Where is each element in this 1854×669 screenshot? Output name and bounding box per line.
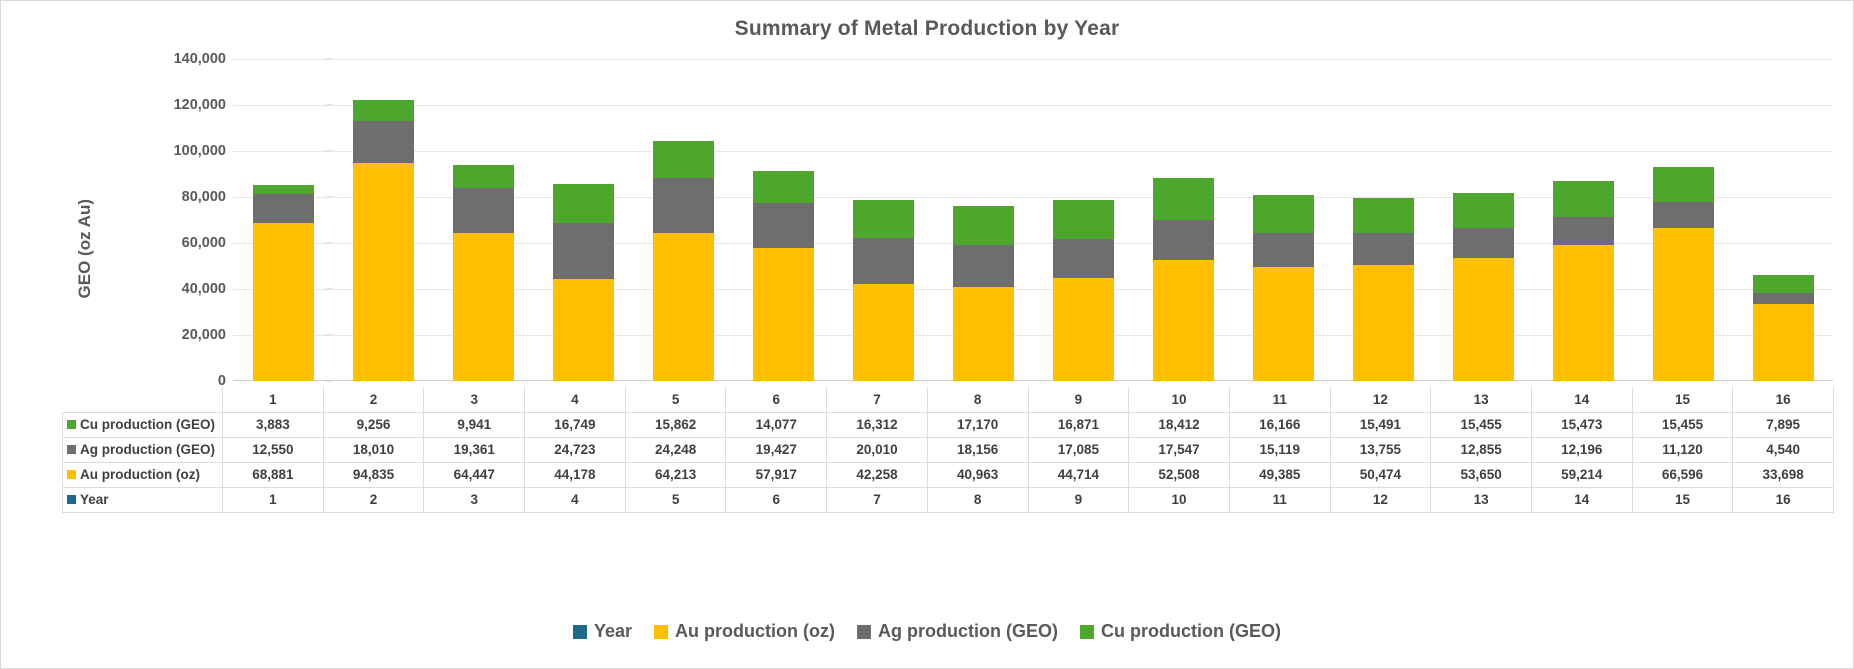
bar-segment[interactable] [1553, 245, 1614, 381]
bar-slot [1333, 59, 1433, 381]
table-cell: 18,412 [1129, 412, 1230, 437]
y-axis-ticks: 140,000120,000100,00080,00060,00040,0002… [101, 59, 226, 381]
bar-segment[interactable] [653, 178, 714, 234]
table-cell: 44,178 [525, 462, 626, 487]
bar-segment[interactable] [453, 165, 514, 188]
x-axis-category-label: 2 [323, 387, 424, 412]
series-color-swatch-icon [67, 420, 76, 429]
bar-segment[interactable] [1253, 195, 1314, 232]
bar-segment[interactable] [653, 141, 714, 177]
bar-slot [1033, 59, 1133, 381]
bar-segment[interactable] [1553, 217, 1614, 245]
bar-segment[interactable] [753, 203, 814, 248]
bar-segment[interactable] [1653, 228, 1714, 381]
table-cell: 40,963 [927, 462, 1028, 487]
table-cell: 57,917 [726, 462, 827, 487]
table-cell: 12,550 [223, 437, 324, 462]
table-cell: 15,473 [1531, 412, 1632, 437]
table-cell: 13 [1431, 487, 1532, 512]
table-row-label: Year [80, 492, 109, 507]
bar-segment[interactable] [953, 287, 1014, 381]
table-cell: 1 [223, 487, 324, 512]
table-cell: 66,596 [1632, 462, 1733, 487]
bar-segment[interactable] [1053, 278, 1114, 381]
table-cell: 2 [323, 487, 424, 512]
bar-segment[interactable] [753, 248, 814, 381]
table-cell: 17,547 [1129, 437, 1230, 462]
bar-slot [533, 59, 633, 381]
bar-segment[interactable] [1353, 265, 1414, 381]
table-cell: 94,835 [323, 462, 424, 487]
table-cell: 9,941 [424, 412, 525, 437]
table-cell: 16,312 [827, 412, 928, 437]
bar-segment[interactable] [553, 279, 614, 381]
bar-segment[interactable] [853, 284, 914, 381]
bar-segment[interactable] [753, 171, 814, 203]
stacked-bar[interactable] [1653, 59, 1714, 381]
table-cell: 18,156 [927, 437, 1028, 462]
stacked-bar[interactable] [1253, 59, 1314, 381]
table-row: Year12345678910111213141516 [63, 487, 1834, 512]
bar-segment[interactable] [953, 206, 1014, 245]
table-cell: 15 [1632, 487, 1733, 512]
bar-segment[interactable] [253, 194, 314, 223]
bar-slot [333, 59, 433, 381]
bar-segment[interactable] [1253, 233, 1314, 268]
series-color-swatch-icon [67, 495, 76, 504]
table-cell: 12,196 [1531, 437, 1632, 462]
table-row-label: Ag production (GEO) [80, 442, 215, 457]
table-cell: 16,166 [1229, 412, 1330, 437]
stacked-bar[interactable] [1753, 59, 1814, 381]
table-cell: 16,871 [1028, 412, 1129, 437]
x-axis-category-label: 14 [1531, 387, 1632, 412]
table-row-header: Au production (oz) [63, 462, 223, 487]
legend-item[interactable]: Ag production (GEO) [857, 621, 1058, 642]
table-cell: 3 [424, 487, 525, 512]
chart-legend: YearAu production (oz)Ag production (GEO… [1, 621, 1853, 642]
table-cell: 15,119 [1229, 437, 1330, 462]
bar-segment[interactable] [1153, 260, 1214, 381]
bar-segment[interactable] [1453, 258, 1514, 381]
stacked-bar[interactable] [1153, 59, 1214, 381]
bar-segment[interactable] [1353, 233, 1414, 265]
stacked-bar[interactable] [653, 59, 714, 381]
bar-slot [1133, 59, 1233, 381]
bar-segment[interactable] [1753, 275, 1814, 293]
x-axis-category-label: 10 [1129, 387, 1230, 412]
x-axis-category-label: 7 [827, 387, 928, 412]
table-cell: 6 [726, 487, 827, 512]
table-row: Ag production (GEO)12,55018,01019,36124,… [63, 437, 1834, 462]
table-cell: 16,749 [525, 412, 626, 437]
bar-segment[interactable] [1353, 198, 1414, 234]
stacked-bar[interactable] [853, 59, 914, 381]
legend-item[interactable]: Year [573, 621, 632, 642]
table-cell: 59,214 [1531, 462, 1632, 487]
x-axis-category-label: 5 [625, 387, 726, 412]
table-cell: 64,447 [424, 462, 525, 487]
bar-segment[interactable] [253, 185, 314, 194]
table-cell: 53,650 [1431, 462, 1532, 487]
table-cell: 50,474 [1330, 462, 1431, 487]
table-cell: 68,881 [223, 462, 324, 487]
table-cell: 15,491 [1330, 412, 1431, 437]
table-cell: 14,077 [726, 412, 827, 437]
table-cell: 8 [927, 487, 1028, 512]
table-cell: 15,455 [1431, 412, 1532, 437]
chart-container: Summary of Metal Production by Year GEO … [0, 0, 1854, 669]
table-category-row: 12345678910111213141516 [63, 387, 1834, 412]
table-cell: 64,213 [625, 462, 726, 487]
bar-segment[interactable] [453, 233, 514, 381]
table-cell: 12 [1330, 487, 1431, 512]
stacked-bar[interactable] [453, 59, 514, 381]
bar-segment[interactable] [853, 238, 914, 284]
x-axis-category-label: 12 [1330, 387, 1431, 412]
table-cell: 9 [1028, 487, 1129, 512]
x-axis-category-label: 3 [424, 387, 525, 412]
legend-color-swatch-icon [654, 625, 668, 639]
table-row-header: Ag production (GEO) [63, 437, 223, 462]
y-axis-tick-label: 140,000 [106, 51, 226, 67]
table-cell: 13,755 [1330, 437, 1431, 462]
x-axis-category-label: 13 [1431, 387, 1532, 412]
table-cell: 14 [1531, 487, 1632, 512]
legend-color-swatch-icon [1080, 625, 1094, 639]
y-axis-tick-label: 20,000 [106, 327, 226, 343]
bar-segment[interactable] [1153, 178, 1214, 220]
legend-item[interactable]: Cu production (GEO) [1080, 621, 1281, 642]
legend-label: Cu production (GEO) [1101, 621, 1281, 642]
bar-segment[interactable] [1053, 239, 1114, 278]
bar-slot [933, 59, 1033, 381]
table-row-header: Year [63, 487, 223, 512]
table-cell: 12,855 [1431, 437, 1532, 462]
y-axis-tick-label: 80,000 [106, 189, 226, 205]
table-cell: 7,895 [1733, 412, 1834, 437]
bar-segment[interactable] [1653, 202, 1714, 228]
table-row: Au production (oz)68,88194,83564,44744,1… [63, 462, 1834, 487]
bar-segment[interactable] [1553, 181, 1614, 217]
stacked-bar[interactable] [253, 59, 314, 381]
table-cell: 4 [525, 487, 626, 512]
table-cell: 7 [827, 487, 928, 512]
table-cell: 5 [625, 487, 726, 512]
x-axis-category-label: 6 [726, 387, 827, 412]
table-cell: 42,258 [827, 462, 928, 487]
bar-segment[interactable] [653, 233, 714, 381]
bar-slot [833, 59, 933, 381]
plot-region: GEO (oz Au) 140,000120,000100,00080,0006… [1, 59, 1854, 381]
bar-segment[interactable] [353, 100, 414, 121]
y-axis-tick-label: 120,000 [106, 97, 226, 113]
bar-segment[interactable] [553, 184, 614, 223]
stacked-bar[interactable] [753, 59, 814, 381]
y-axis-tick-label: 40,000 [106, 281, 226, 297]
table-row: Cu production (GEO)3,8839,2569,94116,749… [63, 412, 1834, 437]
stacked-bar[interactable] [1453, 59, 1514, 381]
bar-segment[interactable] [353, 121, 414, 162]
stacked-bar[interactable] [553, 59, 614, 381]
bar-segment[interactable] [1053, 200, 1114, 239]
data-table: 12345678910111213141516Cu production (GE… [62, 387, 1834, 513]
x-axis-category-label: 1 [223, 387, 324, 412]
table-cell: 24,723 [525, 437, 626, 462]
table-cell: 33,698 [1733, 462, 1834, 487]
bar-segment[interactable] [1653, 167, 1714, 203]
table-row-label: Cu production (GEO) [80, 417, 215, 432]
table-cell: 52,508 [1129, 462, 1230, 487]
table-cell: 49,385 [1229, 462, 1330, 487]
x-axis-category-label: 4 [525, 387, 626, 412]
bar-segment[interactable] [1153, 220, 1214, 260]
table-cell: 15,455 [1632, 412, 1733, 437]
x-axis-category-label: 11 [1229, 387, 1330, 412]
bar-slot [433, 59, 533, 381]
bar-slot [1533, 59, 1633, 381]
bar-slot [1733, 59, 1833, 381]
bar-slot [633, 59, 733, 381]
table-cell: 11,120 [1632, 437, 1733, 462]
bar-segment[interactable] [1453, 193, 1514, 229]
table-cell: 4,540 [1733, 437, 1834, 462]
bar-slot [1633, 59, 1733, 381]
table-cell: 3,883 [223, 412, 324, 437]
table-cell: 19,427 [726, 437, 827, 462]
y-axis-tick-label: 60,000 [106, 235, 226, 251]
table-cell: 17,085 [1028, 437, 1129, 462]
stacked-bar[interactable] [353, 59, 414, 381]
bar-segment[interactable] [1753, 304, 1814, 382]
table-cell: 15,862 [625, 412, 726, 437]
table-cell: 10 [1129, 487, 1230, 512]
table-cell: 17,170 [927, 412, 1028, 437]
bar-segment[interactable] [953, 245, 1014, 287]
plot-area [233, 59, 1833, 381]
table-row-header: Cu production (GEO) [63, 412, 223, 437]
stacked-bar[interactable] [953, 59, 1014, 381]
y-axis-tick-label: 100,000 [106, 143, 226, 159]
chart-title: Summary of Metal Production by Year [1, 17, 1853, 41]
table-row-label: Au production (oz) [80, 467, 200, 482]
legend-color-swatch-icon [857, 625, 871, 639]
stacked-bar[interactable] [1053, 59, 1114, 381]
bar-segment[interactable] [1253, 267, 1314, 381]
bar-series-group [233, 59, 1833, 381]
table-cell: 44,714 [1028, 462, 1129, 487]
table-cell: 19,361 [424, 437, 525, 462]
table-cell: 24,248 [625, 437, 726, 462]
bar-slot [1233, 59, 1333, 381]
series-color-swatch-icon [67, 445, 76, 454]
table-cell: 20,010 [827, 437, 928, 462]
x-axis-category-label: 16 [1733, 387, 1834, 412]
legend-color-swatch-icon [573, 625, 587, 639]
stacked-bar[interactable] [1553, 59, 1614, 381]
series-color-swatch-icon [67, 470, 76, 479]
table-cell: 16 [1733, 487, 1834, 512]
bar-slot [1433, 59, 1533, 381]
table-cell: 9,256 [323, 412, 424, 437]
bar-segment[interactable] [553, 223, 614, 280]
legend-label: Au production (oz) [675, 621, 835, 642]
x-axis-category-label: 8 [927, 387, 1028, 412]
x-axis-category-label: 9 [1028, 387, 1129, 412]
bar-segment[interactable] [1453, 228, 1514, 258]
bar-segment[interactable] [253, 223, 314, 381]
stacked-bar[interactable] [1353, 59, 1414, 381]
bar-slot [233, 59, 333, 381]
bar-segment[interactable] [353, 163, 414, 381]
legend-label: Year [594, 621, 632, 642]
x-axis-category-label: 15 [1632, 387, 1733, 412]
legend-item[interactable]: Au production (oz) [654, 621, 835, 642]
bar-slot [733, 59, 833, 381]
legend-label: Ag production (GEO) [878, 621, 1058, 642]
bar-segment[interactable] [1753, 293, 1814, 303]
table-corner-cell [63, 387, 223, 412]
table-cell: 18,010 [323, 437, 424, 462]
bar-segment[interactable] [453, 188, 514, 233]
table-cell: 11 [1229, 487, 1330, 512]
bar-segment[interactable] [853, 200, 914, 238]
